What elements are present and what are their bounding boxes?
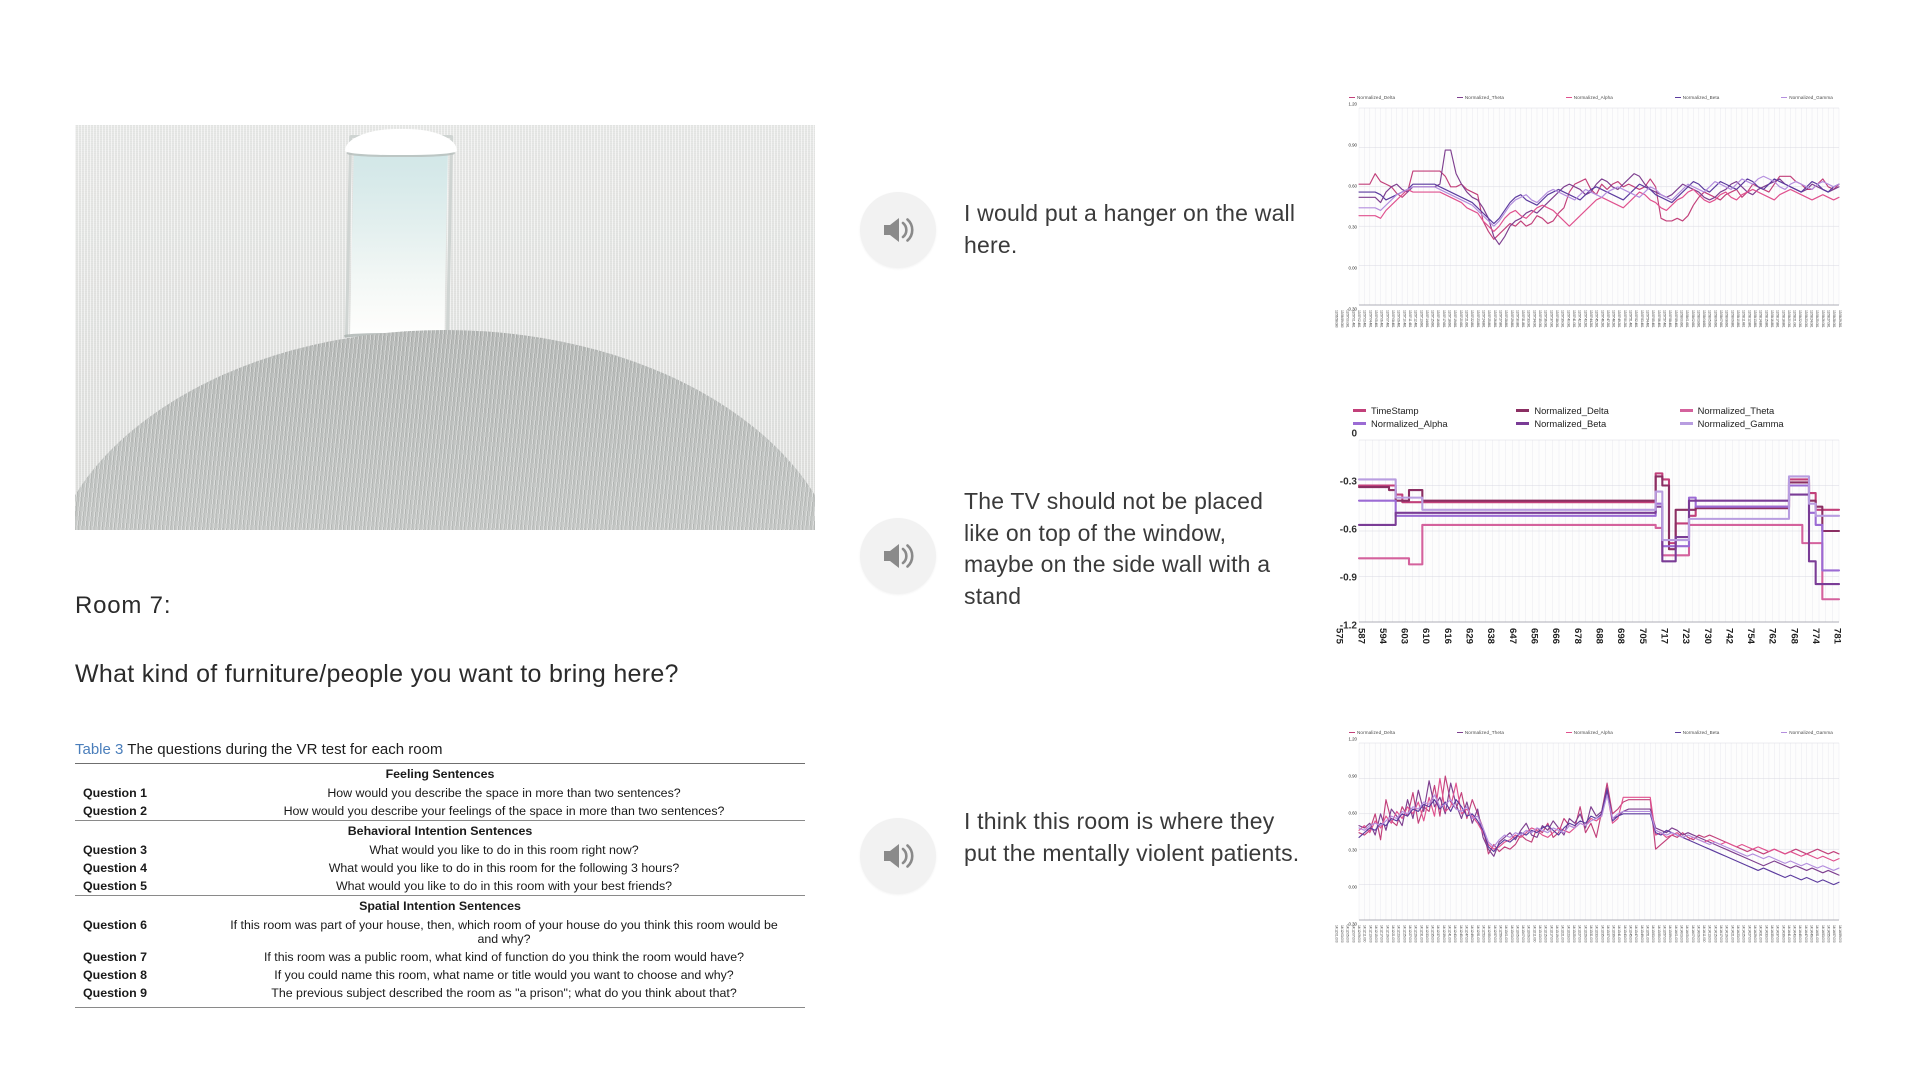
x-tick-label: 14:13:51.000 <box>1645 925 1648 968</box>
x-tick-label: 730 <box>1702 628 1712 660</box>
y-tick-label: -0.9 <box>1340 573 1357 584</box>
x-tick-label: 13:57:29.881 <box>1509 310 1512 353</box>
x-tick-label: 14:12:19.000 <box>1385 925 1388 968</box>
question-text: How would you describe the space in more… <box>225 784 805 802</box>
x-tick-label: 14:13:11.000 <box>1532 925 1535 968</box>
question-text: If this room was part of your house, the… <box>225 916 805 948</box>
x-tick-label: 754 <box>1745 628 1755 660</box>
x-tick-label: 14:14:15.000 <box>1713 925 1716 968</box>
question-text: If you could name this room, what name o… <box>225 966 805 984</box>
x-tick-label: 14:14:23.000 <box>1736 925 1739 968</box>
table-row: Question 8If you could name this room, w… <box>75 966 805 984</box>
legend-swatch <box>1675 732 1681 733</box>
x-tick-label: 14:14:29.000 <box>1753 925 1756 968</box>
chart-3-plot: 1.200.900.600.300.00-0.30 14:12:01.00014… <box>1333 739 1843 924</box>
x-tick-label: 13:57:02.481 <box>1357 310 1360 353</box>
x-tick-label: 14:13:15.000 <box>1543 925 1546 968</box>
y-tick-label: 1.20 <box>1348 737 1357 742</box>
x-tick-label: 774 <box>1810 628 1820 660</box>
x-tick-label: 14:12:09.000 <box>1357 925 1360 968</box>
speaker-icon <box>881 541 915 571</box>
table3-section-header: Spatial Intention Sentences <box>75 896 805 917</box>
x-tick-label: 13:57:27.881 <box>1498 310 1501 353</box>
x-tick-label: 698 <box>1616 628 1626 660</box>
x-tick-label: 14:13:33.000 <box>1594 925 1597 968</box>
x-tick-label: 603 <box>1399 628 1409 660</box>
legend-label: Normalized_Gamma <box>1698 418 1784 429</box>
table-row: Question 2How would you describe your fe… <box>75 802 805 821</box>
x-tick-label: 13:57:22.881 <box>1470 310 1473 353</box>
x-tick-label: 14:14:33.000 <box>1764 925 1767 968</box>
x-tick-label: 13:58:22.081 <box>1798 310 1801 353</box>
x-tick-label: 13:57:51.481 <box>1628 310 1631 353</box>
x-tick-label: 13:57:15.681 <box>1430 310 1433 353</box>
left-column: Room 7: What kind of furniture/people yo… <box>75 125 815 1008</box>
x-tick-label: 14:12:01.000 <box>1334 925 1337 968</box>
x-tick-label: 13:58:06.681 <box>1713 310 1716 353</box>
x-tick-label: 14:14:17.000 <box>1719 925 1722 968</box>
x-tick-label: 14:14:55.000 <box>1826 925 1829 968</box>
transcript-text: I would put a hanger on the wall here. <box>964 192 1300 261</box>
x-tick-label: 13:58:23.081 <box>1803 310 1806 353</box>
x-tick-label: 14:14:01.000 <box>1673 925 1676 968</box>
x-tick-label: 14:12:27.000 <box>1408 925 1411 968</box>
y-tick-label: 0.00 <box>1348 266 1357 271</box>
x-tick-label: 14:12:55.000 <box>1487 925 1490 968</box>
table3: Feeling SentencesQuestion 1How would you… <box>75 763 805 1002</box>
x-tick-label: 13:57:16.681 <box>1436 310 1439 353</box>
x-tick-label: 13:57:40.081 <box>1566 310 1569 353</box>
legend-item: TimeStamp <box>1353 405 1516 416</box>
legend-item: Normalized_Alpha <box>1353 418 1516 429</box>
x-tick-label: 13:57:59.481 <box>1673 310 1676 353</box>
x-tick-label: 13:58:25.081 <box>1815 310 1818 353</box>
legend-swatch <box>1353 422 1366 424</box>
x-tick-label: 14:13:45.000 <box>1628 925 1631 968</box>
x-tick-label: 14:13:13.000 <box>1538 925 1541 968</box>
x-tick-label: 13:57:57.481 <box>1662 310 1665 353</box>
x-tick-label: 14:12:11.000 <box>1362 925 1365 968</box>
x-tick-label: 14:13:05.000 <box>1515 925 1518 968</box>
question-text: What would you like to do in this room r… <box>225 841 805 859</box>
legend-swatch <box>1680 409 1693 411</box>
x-tick-label: 14:13:31.000 <box>1589 925 1592 968</box>
legend-swatch <box>1516 409 1529 411</box>
x-tick-label: 14:14:13.000 <box>1707 925 1710 968</box>
y-tick-label: 0.00 <box>1348 885 1357 890</box>
legend-item: Normalized_Alpha <box>1566 730 1613 735</box>
transcript-item: I think this room is where they put the … <box>860 800 1300 894</box>
x-tick-label: 13:57:01.481 <box>1351 310 1354 353</box>
x-tick-label: 14:12:47.000 <box>1464 925 1467 968</box>
x-tick-label: 13:57:24.881 <box>1481 310 1484 353</box>
x-tick-label: 13:57:25.881 <box>1487 310 1490 353</box>
x-tick-label: 14:14:47.000 <box>1803 925 1806 968</box>
legend-label: Normalized_Delta <box>1357 730 1395 735</box>
legend-item: Normalized_Delta <box>1349 730 1395 735</box>
legend-label: Normalized_Alpha <box>1574 95 1613 100</box>
question-text: What would you like to do in this room f… <box>225 859 805 877</box>
speaker-play-button-2[interactable] <box>860 518 936 594</box>
x-tick-label: 13:58:05.681 <box>1707 310 1710 353</box>
x-tick-label: 14:13:53.000 <box>1651 925 1654 968</box>
x-tick-label: 14:14:09.000 <box>1696 925 1699 968</box>
x-tick-label: 13:57:58.481 <box>1668 310 1671 353</box>
y-tick-label: 0.30 <box>1348 848 1357 853</box>
question-text: What would you like to do in this room w… <box>225 877 805 896</box>
x-tick-label: 14:14:27.000 <box>1747 925 1750 968</box>
x-tick-label: 14:12:45.000 <box>1458 925 1461 968</box>
question-label: Question 3 <box>75 841 225 859</box>
x-tick-label: 14:12:05.000 <box>1345 925 1348 968</box>
legend-swatch <box>1781 732 1787 733</box>
speaker-icon <box>881 215 915 245</box>
x-tick-label: 13:58:03.681 <box>1696 310 1699 353</box>
x-tick-label: 717 <box>1659 628 1669 660</box>
x-tick-label: 14:13:03.000 <box>1509 925 1512 968</box>
x-tick-label: 14:12:03.000 <box>1340 925 1343 968</box>
x-tick-label: 14:14:49.000 <box>1809 925 1812 968</box>
legend-item: Normalized_Theta <box>1457 730 1504 735</box>
x-tick-label: 13:57:23.881 <box>1475 310 1478 353</box>
speaker-play-button-3[interactable] <box>860 818 936 894</box>
question-label: Question 2 <box>75 802 225 821</box>
legend-label: Normalized_Delta <box>1534 405 1609 416</box>
x-tick-label: 14:12:43.000 <box>1453 925 1456 968</box>
x-tick-label: 14:14:57.000 <box>1832 925 1835 968</box>
x-tick-label: 14:13:49.000 <box>1639 925 1642 968</box>
question-label: Question 4 <box>75 859 225 877</box>
table-row: Question 4What would you like to do in t… <box>75 859 805 877</box>
x-tick-label: 14:13:39.000 <box>1611 925 1614 968</box>
x-tick-label: 13:57:45.281 <box>1594 310 1597 353</box>
x-tick-label: 14:13:17.000 <box>1549 925 1552 968</box>
x-tick-label: 13:58:18.881 <box>1781 310 1784 353</box>
x-tick-label: 14:12:53.000 <box>1481 925 1484 968</box>
question-text: The previous subject described the room … <box>225 984 805 1002</box>
x-tick-label: 14:14:59.000 <box>1837 925 1840 968</box>
legend-item: Normalized_Beta <box>1675 730 1720 735</box>
x-tick-label: 14:13:21.000 <box>1560 925 1563 968</box>
x-tick-label: 13:57:30.881 <box>1515 310 1518 353</box>
legend-label: Normalized_Gamma <box>1789 95 1833 100</box>
x-tick-label: 14:12:33.000 <box>1425 925 1428 968</box>
question-label: Question 8 <box>75 966 225 984</box>
x-tick-label: 14:12:29.000 <box>1413 925 1416 968</box>
x-tick-label: 13:58:27.081 <box>1826 310 1829 353</box>
x-tick-label: 14:14:51.000 <box>1815 925 1818 968</box>
x-tick-label: 13:58:04.681 <box>1702 310 1705 353</box>
x-tick-label: 13:58:11.881 <box>1741 310 1744 353</box>
x-tick-label: 13:57:48.281 <box>1611 310 1614 353</box>
y-tick-label: -0.6 <box>1340 525 1357 536</box>
legend-swatch <box>1349 732 1355 733</box>
x-tick-label: 14:13:47.000 <box>1634 925 1637 968</box>
x-tick-label: 14:12:21.000 <box>1391 925 1394 968</box>
x-tick-label: 14:13:37.000 <box>1606 925 1609 968</box>
x-tick-label: 14:13:59.000 <box>1668 925 1671 968</box>
x-tick-label: 13:58:24.081 <box>1809 310 1812 353</box>
x-tick-label: 13:56:58.080 <box>1334 310 1337 353</box>
legend-item: Normalized_Beta <box>1675 95 1720 100</box>
x-tick-label: 13:57:08.481 <box>1391 310 1394 353</box>
legend-label: Normalized_Gamma <box>1789 730 1833 735</box>
x-tick-label: 14:13:01.000 <box>1504 925 1507 968</box>
x-tick-label: 13:58:29.281 <box>1837 310 1840 353</box>
x-tick-label: 14:13:09.000 <box>1526 925 1529 968</box>
x-tick-label: 13:57:13.681 <box>1419 310 1422 353</box>
chart-3-y-axis: 1.200.900.600.300.00-0.30 <box>1333 739 1359 924</box>
x-tick-label: 13:57:04.481 <box>1368 310 1371 353</box>
x-tick-label: 13:57:38.081 <box>1555 310 1558 353</box>
chart-3-x-axis: 14:12:01.00014:12:03.00014:12:05.00014:1… <box>1333 924 1843 968</box>
x-tick-label: 762 <box>1767 628 1777 660</box>
x-tick-label: 13:57:33.081 <box>1526 310 1529 353</box>
x-tick-label: 14:13:41.000 <box>1617 925 1620 968</box>
chart-2-y-axis: 0-0.3-0.6-0.9-1.2 <box>1329 434 1359 626</box>
speaker-play-button-1[interactable] <box>860 192 936 268</box>
table-row: Question 5What would you like to do in t… <box>75 877 805 896</box>
screenshot-root: Room 7: What kind of furniture/people yo… <box>0 0 1920 1080</box>
question-label: Question 6 <box>75 916 225 948</box>
legend-label: Normalized_Theta <box>1465 95 1504 100</box>
x-tick-label: 14:14:41.000 <box>1787 925 1790 968</box>
x-tick-label: 13:57:55.481 <box>1651 310 1654 353</box>
room-title: Room 7: <box>75 592 815 620</box>
question-text: If this room was a public room, what kin… <box>225 948 805 966</box>
x-tick-label: 13:57:11.481 <box>1408 310 1411 353</box>
x-tick-label: 13:58:28.081 <box>1832 310 1835 353</box>
chart-1-legend: Normalized_DeltaNormalized_ThetaNormaliz… <box>1333 95 1843 100</box>
table3-section-header: Behavioral Intention Sentences <box>75 821 805 842</box>
legend-swatch <box>1349 97 1355 98</box>
legend-swatch <box>1566 732 1572 733</box>
x-tick-label: 14:12:13.000 <box>1368 925 1371 968</box>
x-tick-label: 14:14:19.000 <box>1724 925 1727 968</box>
transcript-text: The TV should not be placed like on top … <box>964 480 1300 613</box>
chart-3-legend: Normalized_DeltaNormalized_ThetaNormaliz… <box>1333 730 1843 735</box>
x-tick-label: 656 <box>1529 628 1539 660</box>
eeg-chart-2: TimeStampNormalized_DeltaNormalized_Thet… <box>1333 405 1843 680</box>
x-tick-label: 14:14:45.000 <box>1798 925 1801 968</box>
x-tick-label: 14:14:07.000 <box>1690 925 1693 968</box>
x-tick-label: 13:58:07.681 <box>1719 310 1722 353</box>
x-tick-label: 13:57:18.681 <box>1447 310 1450 353</box>
x-tick-label: 13:57:12.481 <box>1413 310 1416 353</box>
table-row: Question 3What would you like to do in t… <box>75 841 805 859</box>
legend-label: Normalized_Alpha <box>1574 730 1613 735</box>
question-label: Question 9 <box>75 984 225 1002</box>
chart-1-x-axis: 13:56:58.08013:56:59.08013:57:00.08113:5… <box>1333 309 1843 353</box>
x-tick-label: 14:14:05.000 <box>1685 925 1688 968</box>
x-tick-label: 13:57:34.081 <box>1532 310 1535 353</box>
x-tick-label: 13:57:53.481 <box>1639 310 1642 353</box>
eeg-chart-1: Normalized_DeltaNormalized_ThetaNormaliz… <box>1333 95 1843 395</box>
x-tick-label: 13:57:54.481 <box>1645 310 1648 353</box>
x-tick-label: 14:12:31.000 <box>1419 925 1422 968</box>
x-tick-label: 13:57:06.481 <box>1379 310 1382 353</box>
table3-section-title: Spatial Intention Sentences <box>75 896 805 917</box>
x-tick-label: 14:12:49.000 <box>1470 925 1473 968</box>
x-tick-label: 13:57:37.081 <box>1549 310 1552 353</box>
table3-label: Table 3 <box>75 741 123 758</box>
x-tick-label: 13:58:01.681 <box>1685 310 1688 353</box>
x-tick-label: 13:57:05.481 <box>1374 310 1377 353</box>
x-tick-label: 13:58:09.881 <box>1730 310 1733 353</box>
x-tick-label: 13:57:20.681 <box>1458 310 1461 353</box>
x-tick-label: 13:58:14.881 <box>1758 310 1761 353</box>
legend-item: Normalized_Gamma <box>1781 95 1833 100</box>
x-tick-label: 14:14:37.000 <box>1775 925 1778 968</box>
x-tick-label: 13:58:21.081 <box>1792 310 1795 353</box>
x-tick-label: 14:14:21.000 <box>1730 925 1733 968</box>
x-tick-label: 14:12:59.000 <box>1498 925 1501 968</box>
y-tick-label: -0.3 <box>1340 477 1357 488</box>
legend-swatch <box>1781 97 1787 98</box>
question-label: Question 1 <box>75 784 225 802</box>
x-tick-label: 13:57:36.081 <box>1543 310 1546 353</box>
x-tick-label: 13:57:26.881 <box>1492 310 1495 353</box>
x-tick-label: 13:57:17.681 <box>1441 310 1444 353</box>
x-tick-label: 14:12:35.000 <box>1430 925 1433 968</box>
x-tick-label: 13:58:26.081 <box>1820 310 1823 353</box>
x-tick-label: 14:14:25.000 <box>1741 925 1744 968</box>
transcript-item: The TV should not be placed like on top … <box>860 480 1300 613</box>
x-tick-label: 768 <box>1789 628 1799 660</box>
legend-swatch <box>1566 97 1572 98</box>
y-tick-label: 0.60 <box>1348 184 1357 189</box>
x-tick-label: 13:58:16.881 <box>1770 310 1773 353</box>
x-tick-label: 14:13:25.000 <box>1572 925 1575 968</box>
chart-2-x-axis: 5755875946036106166296386476566666786886… <box>1333 626 1843 660</box>
table3-bottom-rule <box>75 1007 805 1008</box>
transcript-item: I would put a hanger on the wall here. <box>860 192 1300 268</box>
x-tick-label: 13:58:13.881 <box>1753 310 1756 353</box>
legend-swatch <box>1675 97 1681 98</box>
x-tick-label: 14:12:23.000 <box>1396 925 1399 968</box>
x-tick-label: 575 <box>1334 628 1344 660</box>
legend-item: Normalized_Delta <box>1516 405 1679 416</box>
x-tick-label: 14:12:41.000 <box>1447 925 1450 968</box>
speaker-icon <box>881 841 915 871</box>
x-tick-label: 14:14:53.000 <box>1820 925 1823 968</box>
x-tick-label: 14:12:15.000 <box>1374 925 1377 968</box>
x-tick-label: 13:57:52.481 <box>1634 310 1637 353</box>
x-tick-label: 14:14:39.000 <box>1781 925 1784 968</box>
x-tick-label: 688 <box>1594 628 1604 660</box>
chart-2-plot: 0-0.3-0.6-0.9-1.2 5755875946036106166296… <box>1333 434 1843 626</box>
x-tick-label: 13:58:12.881 <box>1747 310 1750 353</box>
x-tick-label: 14:13:07.000 <box>1521 925 1524 968</box>
x-tick-label: 13:57:28.881 <box>1504 310 1507 353</box>
x-tick-label: 13:58:02.681 <box>1690 310 1693 353</box>
x-tick-label: 14:13:19.000 <box>1555 925 1558 968</box>
room-question: What kind of furniture/people you want t… <box>75 660 815 689</box>
x-tick-label: 13:57:07.481 <box>1385 310 1388 353</box>
legend-item: Normalized_Gamma <box>1781 730 1833 735</box>
eeg-chart-3: Normalized_DeltaNormalized_ThetaNormaliz… <box>1333 730 1843 1000</box>
vr-window <box>345 135 453 347</box>
legend-label: TimeStamp <box>1371 405 1419 416</box>
question-label: Question 7 <box>75 948 225 966</box>
table3-section-header: Feeling Sentences <box>75 764 805 785</box>
legend-label: Normalized_Delta <box>1357 95 1395 100</box>
x-tick-label: 13:57:56.481 <box>1656 310 1659 353</box>
x-tick-label: 14:13:57.000 <box>1662 925 1665 968</box>
x-tick-label: 13:57:21.681 <box>1464 310 1467 353</box>
x-tick-label: 13:57:42.281 <box>1577 310 1580 353</box>
x-tick-label: 14:13:43.000 <box>1622 925 1625 968</box>
x-tick-label: 14:12:57.000 <box>1492 925 1495 968</box>
legend-item: Normalized_Delta <box>1349 95 1395 100</box>
x-tick-label: 13:58:15.881 <box>1764 310 1767 353</box>
legend-swatch <box>1457 732 1463 733</box>
chart-1-plot: 1.200.900.600.300.00-0.30 13:56:58.08013… <box>1333 104 1843 309</box>
question-label: Question 5 <box>75 877 225 896</box>
y-tick-label: 0 <box>1351 429 1357 440</box>
x-tick-label: 14:13:55.000 <box>1656 925 1659 968</box>
x-tick-label: 13:58:20.081 <box>1787 310 1790 353</box>
x-tick-label: 14:13:35.000 <box>1600 925 1603 968</box>
legend-swatch <box>1353 409 1366 411</box>
y-tick-label: 1.20 <box>1348 102 1357 107</box>
x-tick-label: 13:57:19.681 <box>1453 310 1456 353</box>
x-tick-label: 13:57:43.281 <box>1583 310 1586 353</box>
x-tick-label: 14:14:11.000 <box>1702 925 1705 968</box>
x-tick-label: 13:57:35.081 <box>1538 310 1541 353</box>
x-tick-label: 14:14:31.000 <box>1758 925 1761 968</box>
chart-1-y-axis: 1.200.900.600.300.00-0.30 <box>1333 104 1359 309</box>
table3-caption: Table 3 The questions during the VR test… <box>75 741 805 758</box>
x-tick-label: 14:12:37.000 <box>1436 925 1439 968</box>
x-tick-label: 13:57:14.681 <box>1425 310 1428 353</box>
table3-section-title: Feeling Sentences <box>75 764 805 785</box>
x-tick-label: 638 <box>1486 628 1496 660</box>
legend-swatch <box>1516 422 1529 424</box>
x-tick-label: 13:57:03.481 <box>1362 310 1365 353</box>
y-tick-label: 0.30 <box>1348 225 1357 230</box>
table3-caption-text: The questions during the VR test for eac… <box>127 741 442 758</box>
table-row: Question 6If this room was part of your … <box>75 916 805 948</box>
x-tick-label: 13:57:41.081 <box>1572 310 1575 353</box>
y-tick-label: 0.90 <box>1348 143 1357 148</box>
x-tick-label: 13:57:31.881 <box>1521 310 1524 353</box>
x-tick-label: 13:57:09.481 <box>1396 310 1399 353</box>
x-tick-label: 14:13:27.000 <box>1577 925 1580 968</box>
x-tick-label: 587 <box>1356 628 1366 660</box>
x-tick-label: 14:14:03.000 <box>1679 925 1682 968</box>
legend-label: Normalized_Theta <box>1698 405 1775 416</box>
x-tick-label: 13:58:08.681 <box>1724 310 1727 353</box>
legend-label: Normalized_Beta <box>1683 730 1720 735</box>
x-tick-label: 610 <box>1421 628 1431 660</box>
x-tick-label: 14:12:39.000 <box>1441 925 1444 968</box>
x-tick-label: 629 <box>1464 628 1474 660</box>
x-tick-label: 666 <box>1551 628 1561 660</box>
x-tick-label: 13:57:49.281 <box>1617 310 1620 353</box>
x-tick-label: 14:14:35.000 <box>1770 925 1773 968</box>
table-row: Question 9The previous subject described… <box>75 984 805 1002</box>
x-tick-label: 13:58:17.881 <box>1775 310 1778 353</box>
table3-section-title: Behavioral Intention Sentences <box>75 821 805 842</box>
table-row: Question 7If this room was a public room… <box>75 948 805 966</box>
x-tick-label: 647 <box>1507 628 1517 660</box>
x-tick-label: 14:12:17.000 <box>1379 925 1382 968</box>
legend-item: Normalized_Theta <box>1680 405 1843 416</box>
question-text: How would you describe your feelings of … <box>225 802 805 821</box>
x-tick-label: 678 <box>1572 628 1582 660</box>
x-tick-label: 14:13:23.000 <box>1566 925 1569 968</box>
